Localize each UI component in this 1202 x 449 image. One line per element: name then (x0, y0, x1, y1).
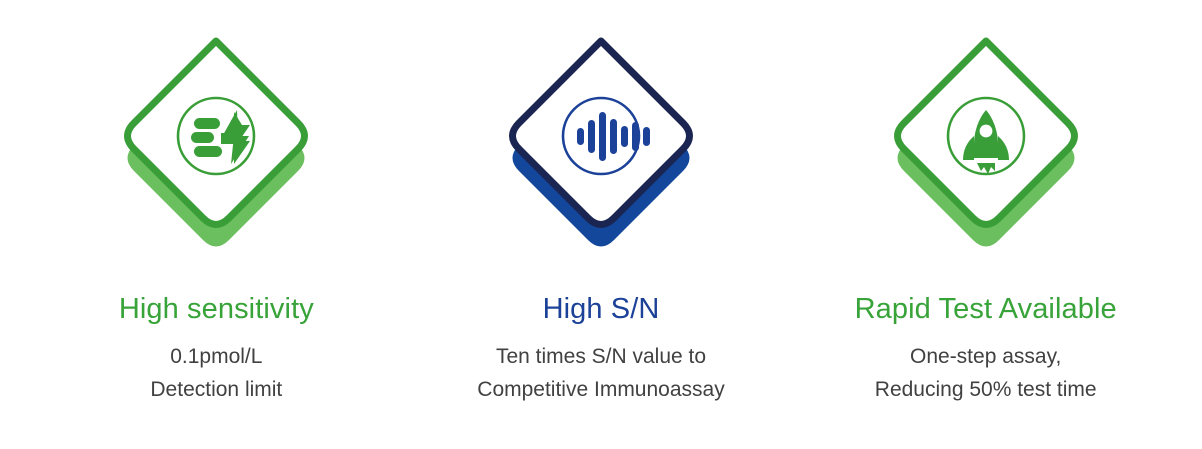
feature-desc-line-2: Competitive Immunoassay (409, 373, 794, 406)
feature-desc-line-1: One-step assay, (793, 340, 1178, 373)
feature-desc-line-1: Ten times S/N value to (409, 340, 794, 373)
feature-card-high-sensitivity: High sensitivity 0.1pmol/L Detection lim… (24, 0, 409, 449)
feature-title: High sensitivity (24, 291, 409, 327)
feature-card-rapid-test: Rapid Test Available One-step assay, Red… (793, 0, 1178, 449)
feature-desc-line-1: 0.1pmol/L (24, 340, 409, 373)
badge-outline (128, 41, 305, 225)
feature-desc-line-2: Reducing 50% test time (793, 373, 1178, 406)
badge-rapid-test (871, 14, 1101, 279)
feature-text-high-sn: High S/N Ten times S/N value to Competit… (409, 291, 794, 406)
feature-text-rapid-test: Rapid Test Available One-step assay, Red… (793, 291, 1178, 406)
feature-card-high-sn: High S/N Ten times S/N value to Competit… (409, 0, 794, 449)
badge-high-sn (486, 14, 716, 279)
feature-title: High S/N (409, 291, 794, 327)
badge-high-sensitivity (101, 14, 331, 279)
feature-desc-line-2: Detection limit (24, 373, 409, 406)
feature-title: Rapid Test Available (793, 291, 1178, 327)
feature-highlights-row: High sensitivity 0.1pmol/L Detection lim… (0, 0, 1202, 449)
feature-text-high-sensitivity: High sensitivity 0.1pmol/L Detection lim… (24, 291, 409, 406)
